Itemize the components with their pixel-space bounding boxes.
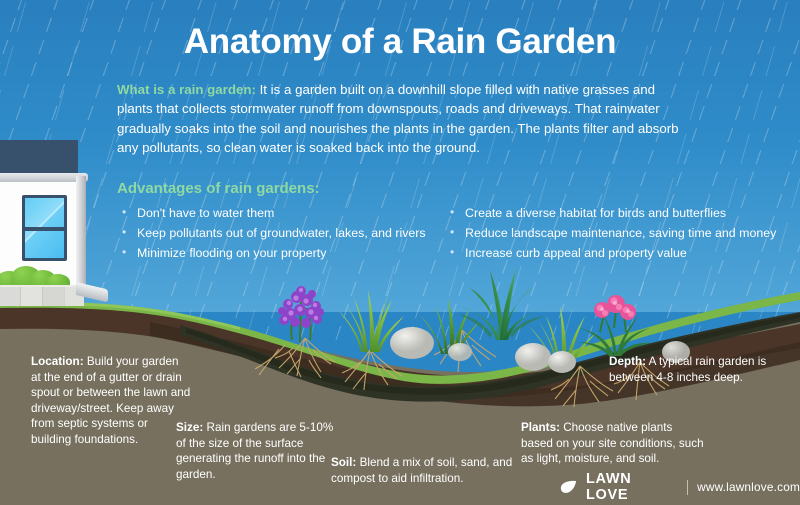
list-item: Don't have to water them [120, 203, 426, 223]
note-soil-label: Soil: [331, 456, 356, 469]
list-item: Increase curb appeal and property value [448, 243, 776, 263]
note-location-text: Build your garden at the end of a gutter… [31, 355, 190, 446]
pink-flower [578, 295, 652, 356]
note-plants: Plants: Choose native plants based on yo… [521, 420, 706, 467]
intro-paragraph: What is a rain garden: It is a garden bu… [117, 80, 689, 158]
note-plants-label: Plants: [521, 421, 560, 434]
note-location: Location: Build your garden at the end o… [31, 354, 191, 448]
infographic-canvas: Anatomy of a Rain Garden What is a rain … [0, 0, 800, 505]
advantages-list-left: Don't have to water them Keep pollutants… [120, 203, 426, 263]
purple-flower [278, 286, 324, 342]
footer-brand[interactable]: LAWN LOVE www.lawnlove.com [560, 477, 800, 497]
note-size-label: Size: [176, 421, 203, 434]
footer-divider [687, 480, 688, 495]
green-leafy-plant [458, 268, 544, 340]
note-depth: Depth: A typical rain garden is between … [609, 354, 789, 385]
note-depth-label: Depth: [609, 355, 646, 368]
note-soil: Soil: Blend a mix of soil, sand, and com… [331, 455, 521, 486]
note-size: Size: Rain gardens are 5-10% of the size… [176, 420, 341, 482]
footer-url[interactable]: www.lawnlove.com [697, 480, 800, 494]
leaf-icon [560, 480, 577, 494]
list-item: Reduce landscape maintenance, saving tim… [448, 223, 776, 243]
list-item: Keep pollutants out of groundwater, lake… [120, 223, 426, 243]
note-location-label: Location: [31, 355, 84, 368]
list-item: Create a diverse habitat for birds and b… [448, 203, 776, 223]
intro-label: What is a rain garden: [117, 82, 256, 97]
plant-roots [255, 330, 669, 407]
brand-name: LAWN LOVE [586, 471, 678, 503]
list-item: Minimize flooding on your property [120, 243, 426, 263]
note-soil-text: Blend a mix of soil, sand, and compost t… [331, 456, 512, 485]
advantages-list-right: Create a diverse habitat for birds and b… [448, 203, 776, 263]
page-title: Anatomy of a Rain Garden [0, 22, 800, 62]
advantages-heading: Advantages of rain gardens: [117, 180, 320, 197]
